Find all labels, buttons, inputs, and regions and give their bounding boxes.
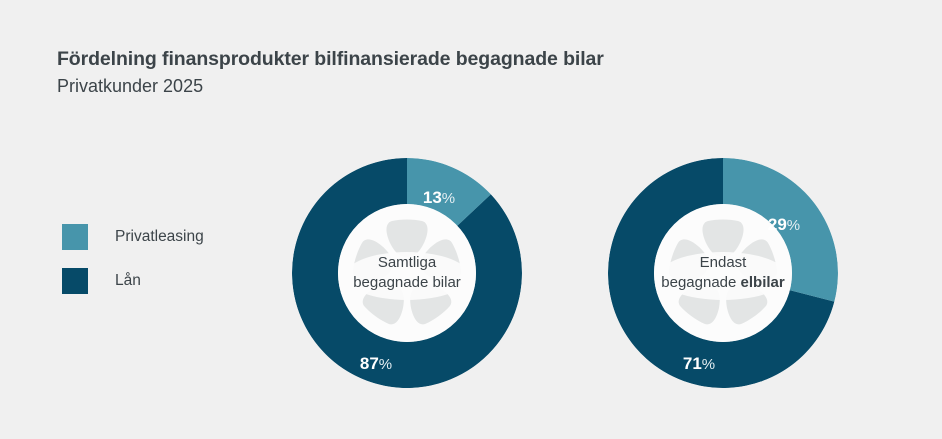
- legend-item-privatleasing: Privatleasing: [62, 224, 252, 250]
- donut-svg-samtliga: 13% 87%: [292, 158, 522, 388]
- chart-canvas: Fördelning finansprodukter bilfinansiera…: [0, 0, 942, 439]
- page-subtitle: Privatkunder 2025: [57, 73, 837, 99]
- legend-swatch-icon-lan: [62, 268, 88, 294]
- donut-svg-elbilar: 29% 71%: [608, 158, 838, 388]
- legend-item-lan: Lån: [62, 268, 252, 294]
- page-title: Fördelning finansprodukter bilfinansiera…: [57, 46, 837, 72]
- donut-chart-elbilar: 29% 71% Endast begagnade elbilar: [608, 158, 838, 388]
- wheel-center-plate-samtliga: [345, 252, 469, 300]
- chart-header: Fördelning finansprodukter bilfinansiera…: [57, 46, 837, 99]
- donut-value-label-privatleasing-samtliga: 13%: [423, 188, 455, 207]
- legend-label-privatleasing: Privatleasing: [115, 228, 204, 246]
- chart-legend: Privatleasing Lån: [62, 224, 252, 312]
- legend-swatch-icon-privatleasing: [62, 224, 88, 250]
- donut-value-label-privatleasing-elbilar: 29%: [768, 215, 800, 234]
- wheel-center-plate-elbilar: [659, 252, 787, 300]
- donut-value-label-lan-elbilar: 71%: [683, 354, 715, 373]
- donut-chart-samtliga: 13% 87% Samtliga begagnade bilar: [292, 158, 522, 388]
- legend-label-lan: Lån: [115, 272, 141, 290]
- donut-value-label-lan-samtliga: 87%: [360, 354, 392, 373]
